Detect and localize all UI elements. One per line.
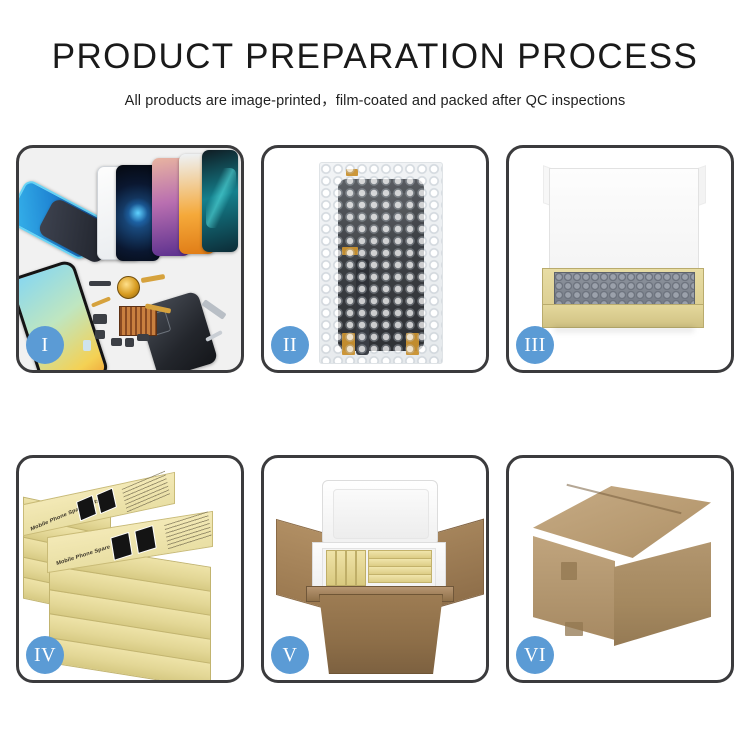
box-drop-shadow: [554, 327, 694, 332]
packed-box-vertical-1: [326, 550, 336, 586]
box-spec-lines-rear: [122, 471, 170, 514]
step-panel-3[interactable]: III: [506, 145, 734, 373]
wrapped-flex-cable: [356, 259, 369, 355]
box-lid-white: [549, 168, 699, 284]
page-header: PRODUCT PREPARATION PROCESS All products…: [0, 0, 750, 110]
styrofoam-lid-recess: [333, 489, 429, 539]
page-title: PRODUCT PREPARATION PROCESS: [0, 38, 750, 77]
sim-tray: [83, 340, 91, 351]
box-screen-image-front-2: [134, 525, 157, 554]
step-panel-2[interactable]: II: [261, 145, 489, 373]
packed-box-vertical-2: [336, 550, 346, 586]
gray-foam-padding: [554, 272, 695, 306]
wireless-charging-coil: [117, 276, 140, 299]
process-step-grid: I II III: [16, 145, 734, 685]
logic-board: [119, 306, 157, 336]
step-panel-5[interactable]: V: [261, 455, 489, 683]
step-badge-3: III: [516, 326, 554, 364]
box-screen-image-rear-2: [96, 488, 117, 515]
step-panel-1[interactable]: I: [16, 145, 244, 373]
bubble-wrap-bag: [319, 162, 443, 364]
step-badge-2: II: [271, 326, 309, 364]
packed-box-vertical-4: [356, 550, 366, 586]
step-panel-4[interactable]: Mobile Phone Spare Parts Mobile Phone Sp…: [16, 455, 244, 683]
phone-screen-teal: [202, 150, 238, 252]
step-badge-6: VI: [516, 636, 554, 674]
small-connector-4: [125, 338, 134, 347]
tape-piece-bottom-right: [406, 333, 419, 355]
step-badge-1: I: [26, 326, 64, 364]
box-screen-image-front-1: [110, 532, 133, 561]
small-connector-3: [111, 338, 122, 346]
small-connector-5: [137, 334, 149, 341]
step-badge-4: IV: [26, 636, 64, 674]
packed-box-horizontal-4: [368, 574, 432, 583]
carton-right-face: [614, 542, 711, 646]
page-subtitle: All products are image-printed，film-coat…: [0, 89, 750, 110]
tape-piece-bottom-left: [342, 333, 355, 355]
tape-piece-middle: [342, 247, 358, 255]
earpiece-mesh: [89, 281, 111, 286]
step-badge-5: V: [271, 636, 309, 674]
box-spec-lines-front: [164, 511, 212, 550]
styrofoam-lid: [322, 480, 438, 546]
small-connector-2: [95, 330, 105, 339]
small-connector-1: [93, 314, 107, 324]
box-front-panel: [542, 304, 704, 328]
wrapped-screen-assembly: [338, 179, 424, 351]
carton-tape-lower: [565, 622, 583, 636]
flex-cable-1: [141, 274, 166, 283]
carton-body: [319, 594, 443, 674]
carton-tape-upper: [561, 562, 577, 580]
tape-piece-top: [346, 169, 358, 176]
step-panel-6[interactable]: VI: [506, 455, 734, 683]
packed-box-vertical-3: [346, 550, 356, 586]
flex-cable-3: [91, 296, 111, 307]
